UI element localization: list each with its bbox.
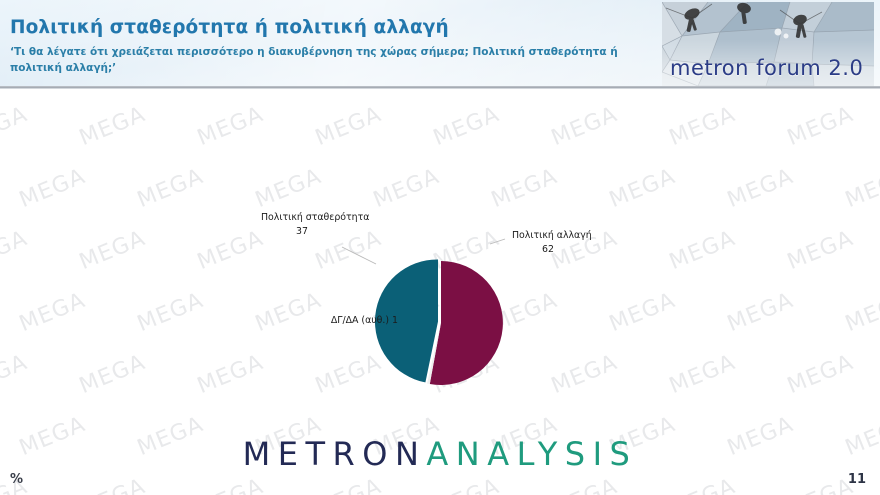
pie-label-name-1: Πολιτική αλλαγή — [512, 230, 592, 241]
pie-label-value-1: 62 — [512, 243, 584, 257]
watermark-tile: MEGA — [548, 474, 621, 495]
pie-slice-politiki-allagi[interactable] — [430, 261, 503, 385]
brand-metron: METRON — [243, 435, 427, 473]
watermark-tile: MEGA — [312, 474, 385, 495]
pie-label-politiki-statherotita: Πολιτική σταθερότητα 37 — [261, 211, 343, 238]
pie-label-name-0: Πολιτική σταθερότητα — [261, 212, 369, 223]
watermark-tile: MEGA — [76, 474, 149, 495]
watermark-tile: MEGA — [194, 474, 267, 495]
metron-forum-logo: metron forum 2.0 — [662, 2, 874, 86]
watermark-tile: MEGA — [784, 474, 857, 495]
watermark-tile: MEGA — [430, 474, 503, 495]
pie-chart-svg — [0, 92, 880, 422]
pie-chart: Πολιτική σταθερότητα 37 Πολιτική αλλαγή … — [0, 92, 880, 422]
slide-root: MEGAMEGAMEGAMEGAMEGAMEGAMEGAMEGAMEGAMEGA… — [0, 0, 880, 495]
page-number: 11 — [848, 472, 866, 487]
page-title: Πολιτική σταθερότητα ή πολιτική αλλαγή — [10, 17, 449, 38]
page-subtitle: ‘Τι θα λέγατε ότι χρειάζεται περισσότερο… — [10, 44, 650, 77]
header-divider — [0, 86, 880, 89]
pie-label-dg-da: ΔΓ/ΔΑ (αυθ.) 1 — [306, 314, 398, 328]
brand-analysis: ANALYSIS — [426, 435, 637, 473]
watermark-tile: MEGA — [666, 474, 739, 495]
forum-logo-text: metron forum 2.0 — [670, 56, 863, 80]
pie-label-value-0: 37 — [261, 225, 343, 239]
metron-analysis-logo: METRONANALYSIS — [0, 435, 880, 473]
pie-label-politiki-allagi: Πολιτική αλλαγή 62 — [512, 229, 584, 256]
unit-percent-label: % — [10, 472, 23, 487]
